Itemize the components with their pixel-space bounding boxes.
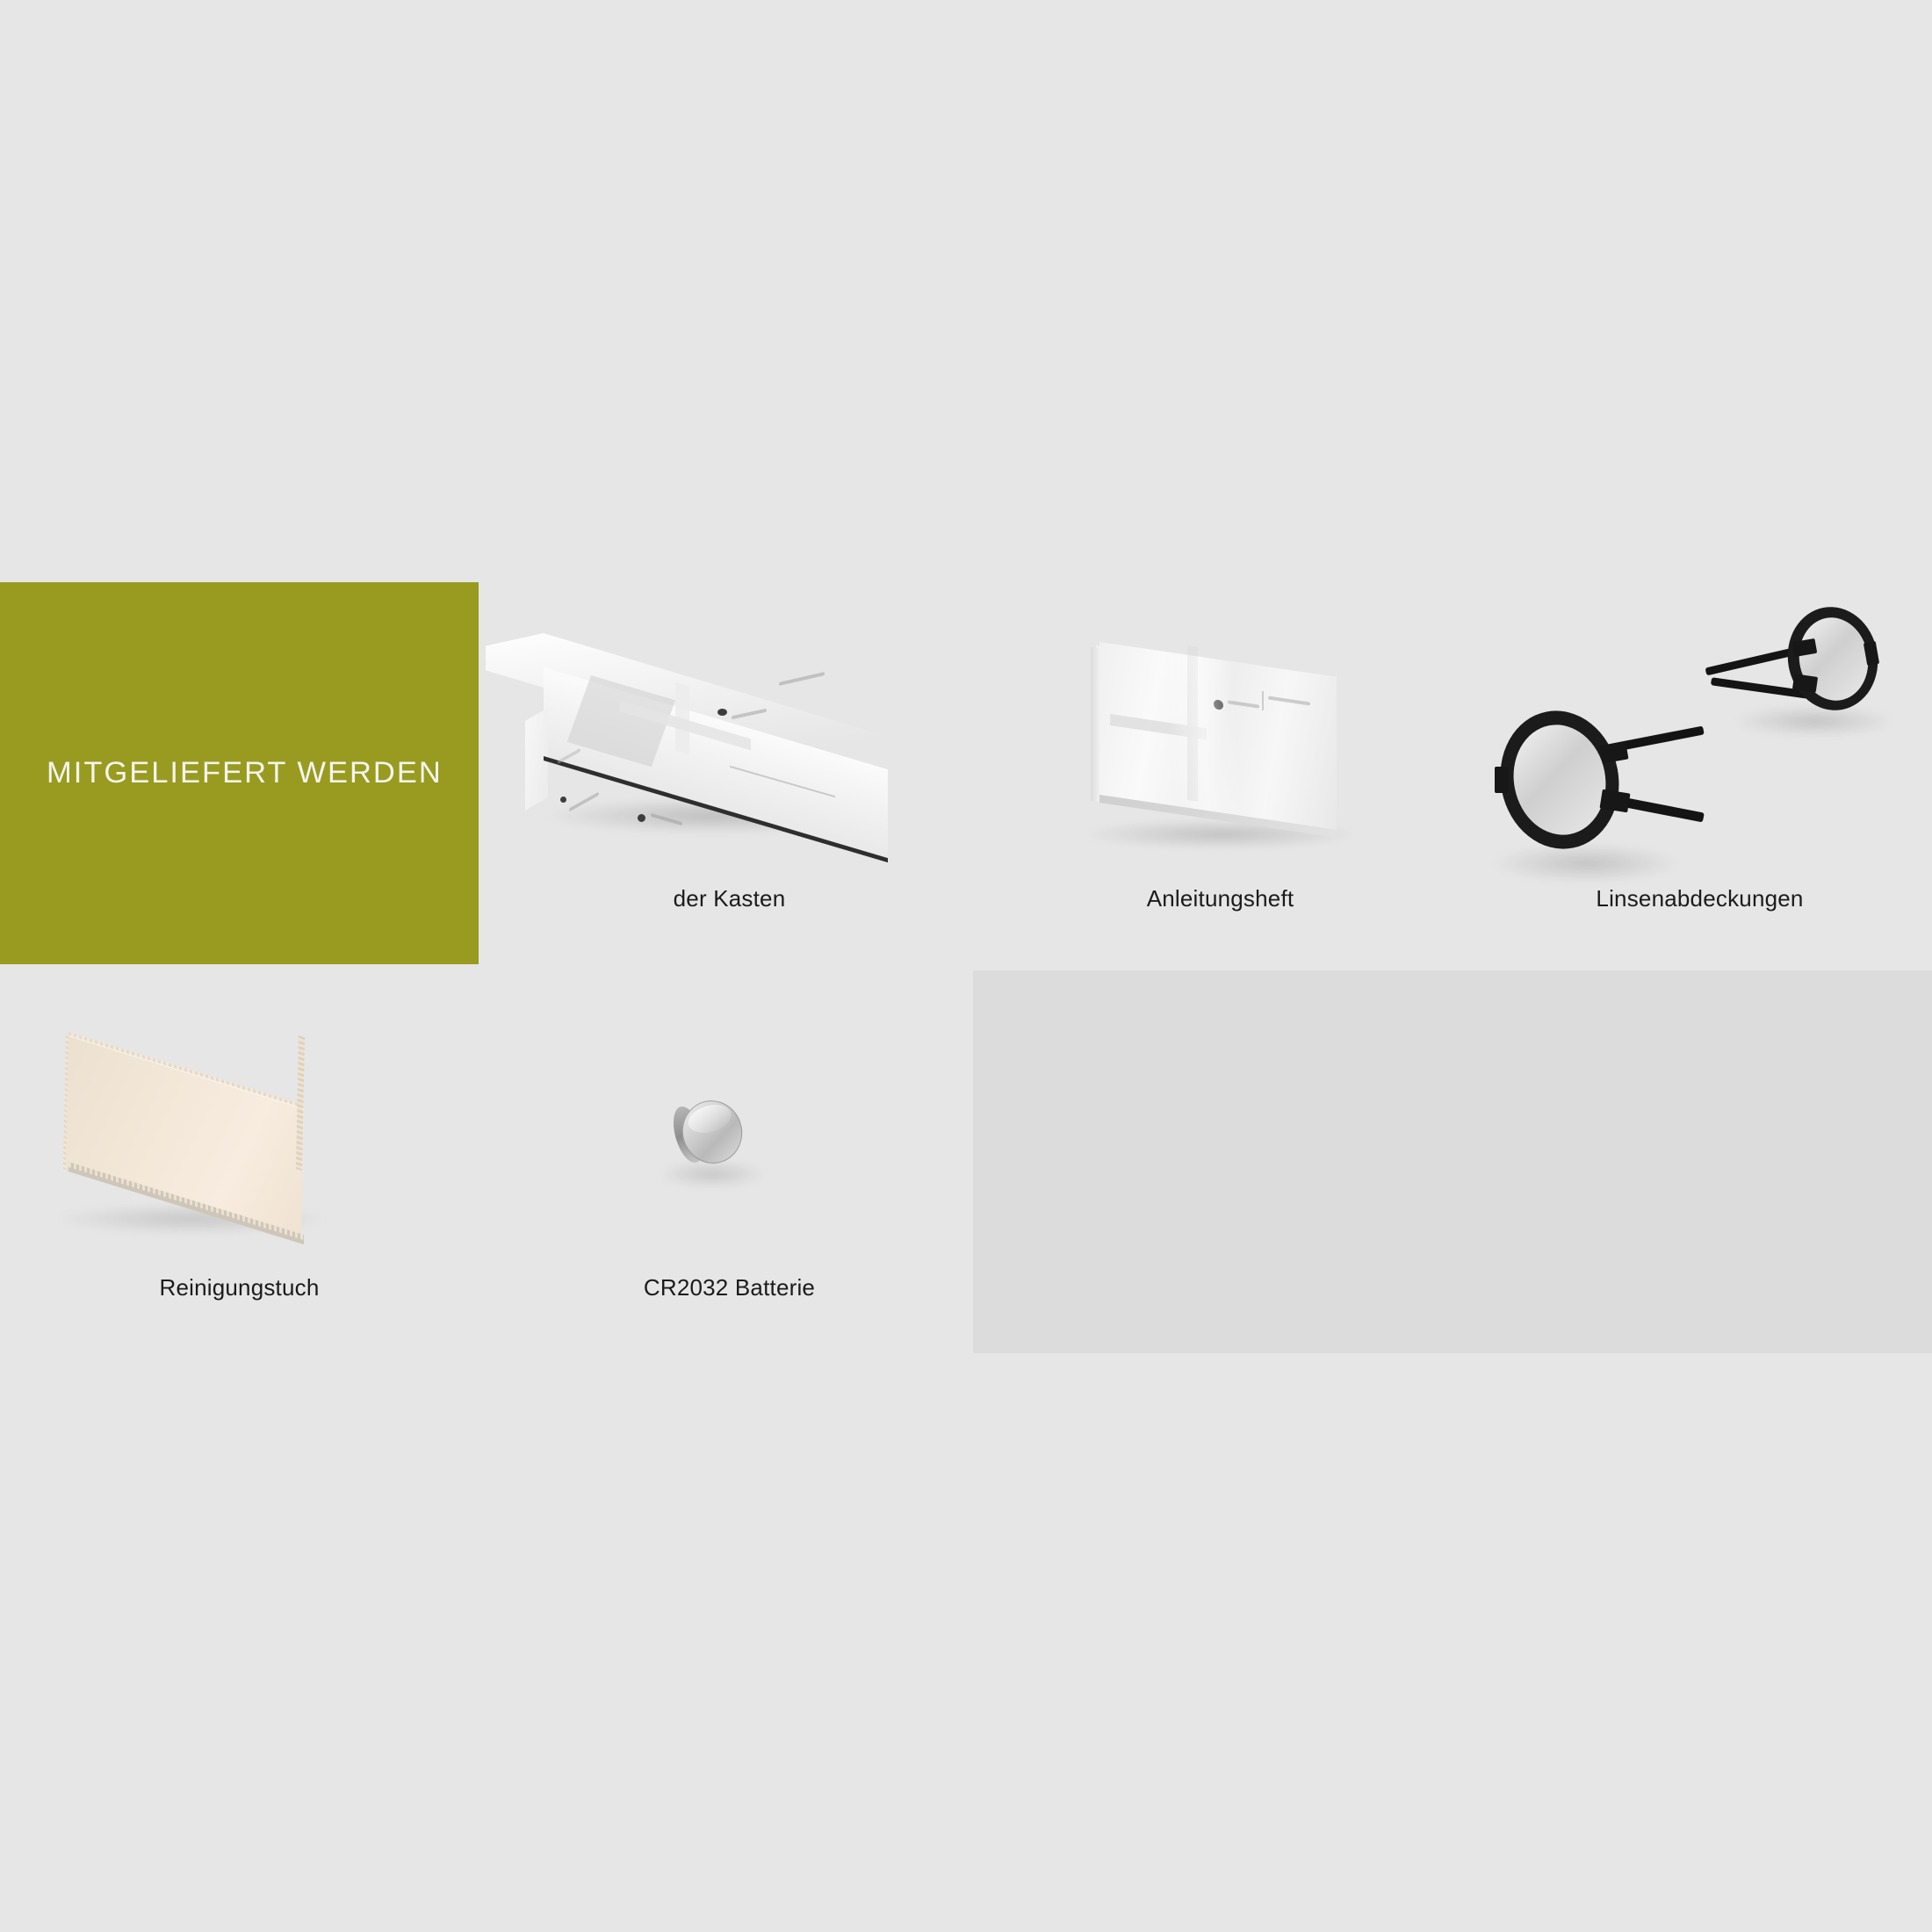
product-box-icon	[526, 624, 930, 888]
drop-shadow	[1494, 844, 1678, 883]
item-tile-booklet[interactable]: Anleitungsheft	[980, 582, 1460, 964]
brand-mark-icon	[560, 797, 566, 803]
item-tile-box[interactable]: der Kasten	[486, 582, 973, 964]
item-tile-cleaning-cloth[interactable]: Reinigungstuch	[0, 970, 479, 1353]
lens-cap-tab	[1495, 767, 1509, 793]
item-caption: Reinigungstuch	[0, 1276, 479, 1299]
section-heading-tile: MITGELIEFERT WERDEN	[0, 582, 479, 964]
lens-cap-front	[1494, 703, 1696, 879]
item-caption: der Kasten	[486, 887, 973, 910]
lens-caps-icon	[1485, 600, 1924, 890]
item-caption: CR2032 Batterie	[486, 1276, 973, 1299]
included-items-grid: MITGELIEFERT WERDEN	[0, 582, 1932, 1353]
brand-mark-icon	[717, 709, 727, 716]
item-image-lens-caps	[1467, 582, 1932, 868]
lens-cap-back	[1709, 602, 1924, 760]
lens-cap-tab	[1599, 789, 1630, 813]
item-tile-lens-caps[interactable]: Linsenabdeckungen	[1467, 582, 1932, 964]
instruction-booklet-icon	[1084, 633, 1373, 888]
lens-cap-tab	[1599, 742, 1628, 764]
lens-cap-tab	[1792, 674, 1818, 693]
item-image-cleaning-cloth	[0, 970, 479, 1257]
item-caption: Linsenabdeckungen	[1467, 887, 1932, 910]
drop-shadow	[1735, 705, 1893, 737]
item-tile-battery[interactable]: CR2032 Batterie	[486, 970, 973, 1353]
section-heading-label: MITGELIEFERT WERDEN	[0, 758, 443, 789]
box-text-line	[779, 672, 825, 686]
whats-in-the-box-page: MITGELIEFERT WERDEN	[0, 0, 1932, 1932]
brand-mark-icon	[638, 814, 645, 822]
cloth-serrated-edge	[296, 1035, 305, 1171]
item-caption: Anleitungsheft	[980, 887, 1460, 910]
coin-cell-battery-icon	[652, 1086, 811, 1227]
item-image-booklet	[980, 582, 1460, 868]
grid-empty-filler	[957, 970, 1932, 1353]
item-image-battery	[486, 970, 973, 1257]
drop-shadow	[660, 1160, 765, 1188]
item-image-box	[486, 582, 973, 868]
cleaning-cloth-icon	[54, 1021, 344, 1267]
